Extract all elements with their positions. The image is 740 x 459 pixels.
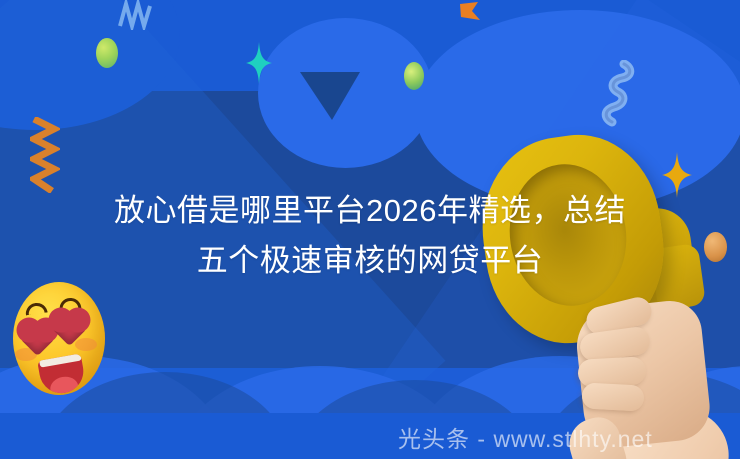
emoji-blush-right (75, 338, 97, 351)
green-balloon-icon (96, 38, 118, 68)
site-watermark: 光头条 - www.stlhty.net (398, 420, 653, 454)
blue-spiral-ribbon-icon (598, 60, 638, 132)
blue-zigzag-streamer-icon (118, 0, 156, 30)
megaphone-illustration (476, 126, 740, 459)
heart-eyes-emoji-icon (13, 282, 105, 395)
teal-sparkle-icon (246, 42, 272, 84)
background-wedge (300, 72, 360, 120)
emoji-eyebrow-left (24, 302, 47, 316)
promo-banner: 放心借是哪里平台2026年精选，总结 五个极速审核的网贷平台 光头条 - www… (0, 0, 740, 459)
finger-4 (581, 382, 644, 411)
orange-zigzag-streamer-icon (30, 117, 60, 193)
orange-arrow-confetti-icon (458, 0, 484, 22)
green-balloon-small-icon (404, 62, 424, 90)
banner-title: 放心借是哪里平台2026年精选，总结 五个极速审核的网贷平台 (0, 186, 740, 286)
